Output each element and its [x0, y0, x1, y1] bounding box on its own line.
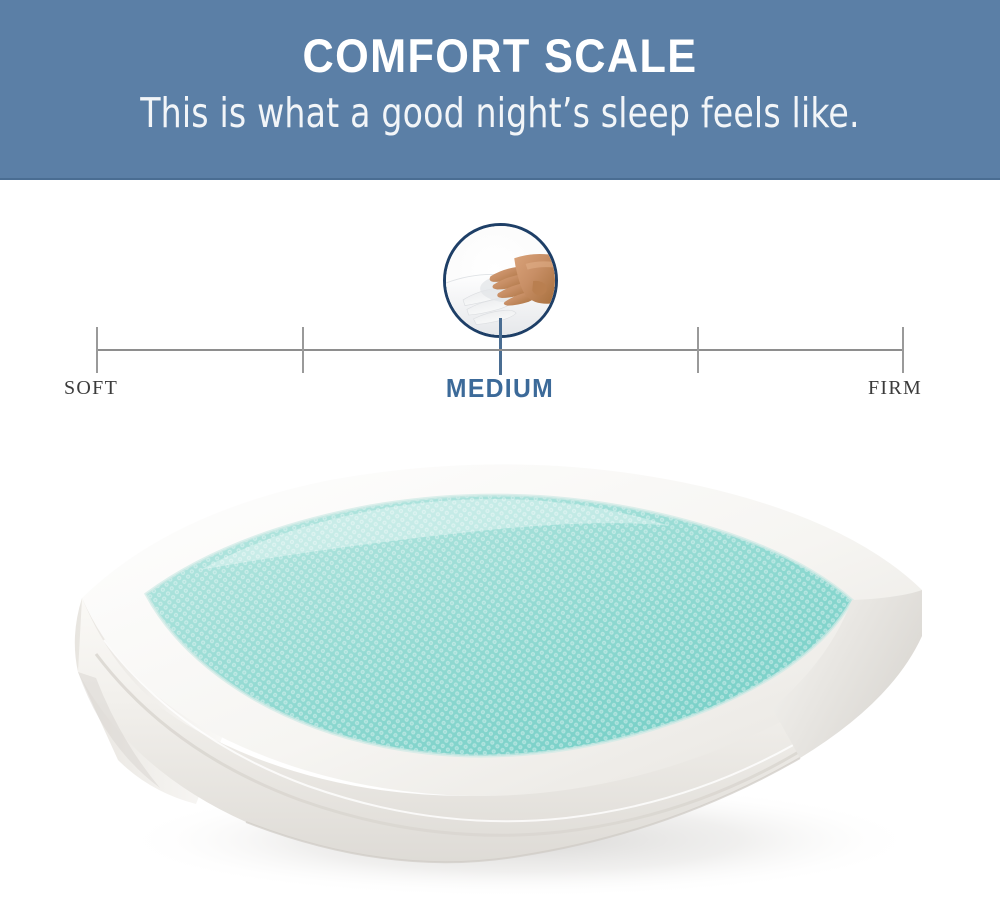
- scale-tick-three-quarter: [697, 327, 699, 373]
- comfort-scale: SOFT FIRM MEDIUM: [0, 180, 1000, 440]
- memory-foam-pillow-photo: [0, 440, 1000, 912]
- product-image-region: [0, 440, 1000, 912]
- comfort-scale-header-banner: COMFORT SCALE This is what a good night’…: [0, 0, 1000, 180]
- page-subtitle: This is what a good night’s sleep feels …: [50, 88, 950, 138]
- scale-label-medium-selected: MEDIUM: [25, 373, 975, 404]
- comfort-indicator-stem: [499, 318, 502, 375]
- scale-tick-soft: [96, 327, 98, 373]
- page-title: COMFORT SCALE: [40, 30, 960, 82]
- scale-tick-firm: [902, 327, 904, 373]
- comfort-scale-axis: [96, 349, 904, 351]
- scale-tick-quarter: [302, 327, 304, 373]
